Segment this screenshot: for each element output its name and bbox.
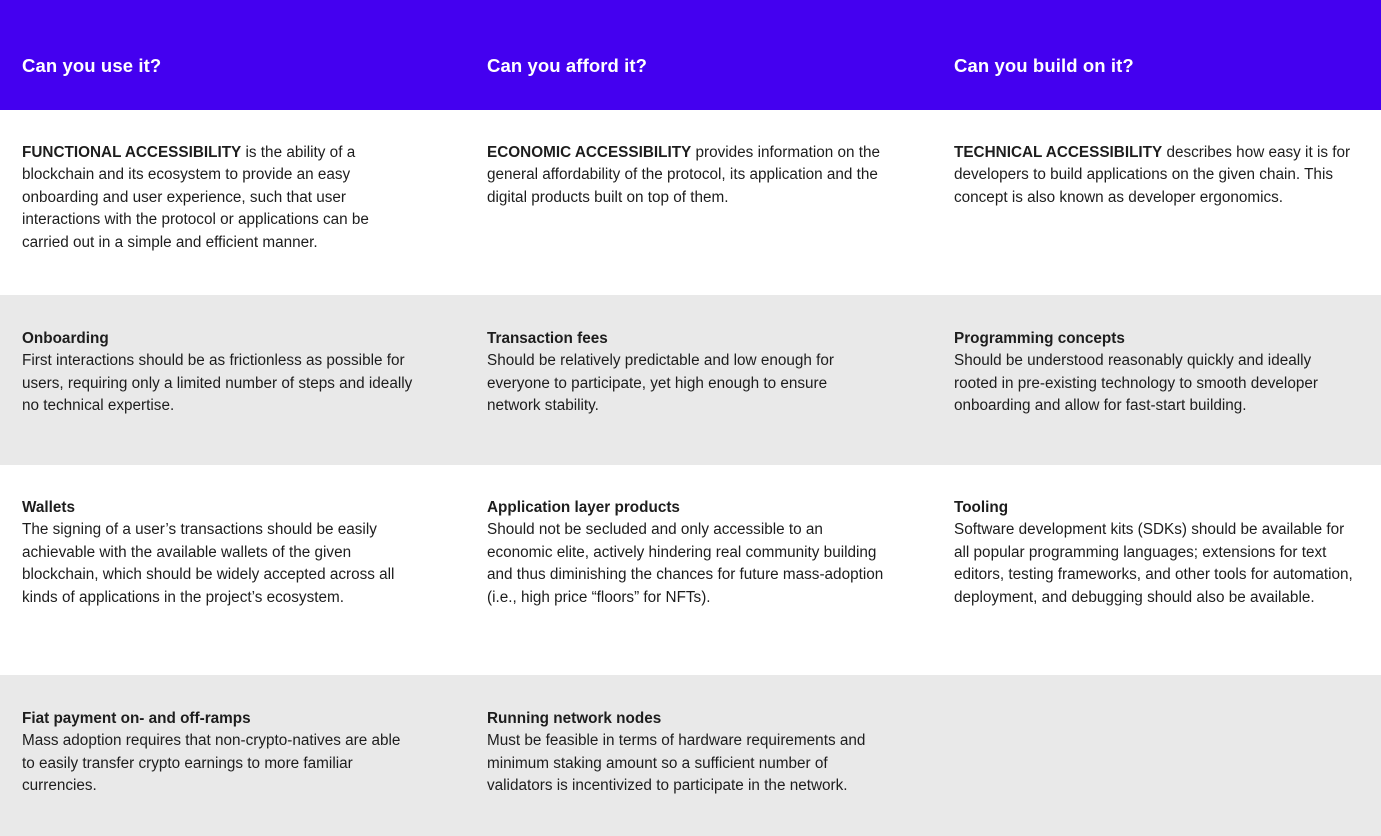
cell-title: Tooling xyxy=(954,497,1354,519)
cell-running-network-nodes: Running network nodes Must be feasible i… xyxy=(487,675,884,798)
cell-lede-term: FUNCTIONAL ACCESSIBILITY xyxy=(22,144,241,161)
column-header-afford: Can you afford it? xyxy=(487,55,647,77)
cell-lede-term: TECHNICAL ACCESSIBILITY xyxy=(954,144,1162,161)
column-header-use: Can you use it? xyxy=(22,55,161,77)
cell-body: The signing of a user’s transactions sho… xyxy=(22,519,414,609)
cell-title: Transaction fees xyxy=(487,328,884,350)
accessibility-matrix: Can you use it? Can you afford it? Can y… xyxy=(0,0,1381,836)
cell-technical-accessibility: TECHNICAL ACCESSIBILITY describes how ea… xyxy=(954,110,1354,209)
cell-empty-build xyxy=(954,675,1354,708)
cell-text: TECHNICAL ACCESSIBILITY describes how ea… xyxy=(954,142,1354,209)
matrix-row-entry-1: Onboarding First interactions should be … xyxy=(0,295,1381,465)
cell-fiat-payment-ramps: Fiat payment on- and off-ramps Mass adop… xyxy=(22,675,414,798)
cell-functional-accessibility: FUNCTIONAL ACCESSIBILITY is the ability … xyxy=(22,110,414,254)
cell-text: FUNCTIONAL ACCESSIBILITY is the ability … xyxy=(22,142,414,254)
matrix-row-definitions: FUNCTIONAL ACCESSIBILITY is the ability … xyxy=(0,110,1381,295)
cell-application-layer-products: Application layer products Should not be… xyxy=(487,465,884,609)
cell-body: Must be feasible in terms of hardware re… xyxy=(487,730,884,797)
cell-text: ECONOMIC ACCESSIBILITY provides informat… xyxy=(487,142,884,209)
cell-programming-concepts: Programming concepts Should be understoo… xyxy=(954,295,1354,418)
cell-body: Mass adoption requires that non-crypto-n… xyxy=(22,730,414,797)
cell-title: Application layer products xyxy=(487,497,884,519)
cell-wallets: Wallets The signing of a user’s transact… xyxy=(22,465,414,609)
cell-economic-accessibility: ECONOMIC ACCESSIBILITY provides informat… xyxy=(487,110,884,209)
cell-transaction-fees: Transaction fees Should be relatively pr… xyxy=(487,295,884,418)
cell-body: Software development kits (SDKs) should … xyxy=(954,519,1354,609)
cell-body: Should be relatively predictable and low… xyxy=(487,350,884,417)
cell-title: Programming concepts xyxy=(954,328,1354,350)
cell-tooling: Tooling Software development kits (SDKs)… xyxy=(954,465,1354,609)
cell-title: Fiat payment on- and off-ramps xyxy=(22,708,414,730)
matrix-header-band: Can you use it? Can you afford it? Can y… xyxy=(0,0,1381,110)
cell-body: Should be understood reasonably quickly … xyxy=(954,350,1354,417)
matrix-header-columns: Can you use it? Can you afford it? Can y… xyxy=(0,0,1381,110)
column-header-build: Can you build on it? xyxy=(954,55,1134,77)
matrix-row-entry-3: Fiat payment on- and off-ramps Mass adop… xyxy=(0,675,1381,836)
cell-onboarding: Onboarding First interactions should be … xyxy=(22,295,414,418)
cell-title: Running network nodes xyxy=(487,708,884,730)
cell-body: First interactions should be as friction… xyxy=(22,350,414,417)
cell-title: Onboarding xyxy=(22,328,414,350)
cell-body: Should not be secluded and only accessib… xyxy=(487,519,884,609)
cell-title: Wallets xyxy=(22,497,414,519)
cell-lede-term: ECONOMIC ACCESSIBILITY xyxy=(487,144,691,161)
matrix-row-entry-2: Wallets The signing of a user’s transact… xyxy=(0,465,1381,675)
